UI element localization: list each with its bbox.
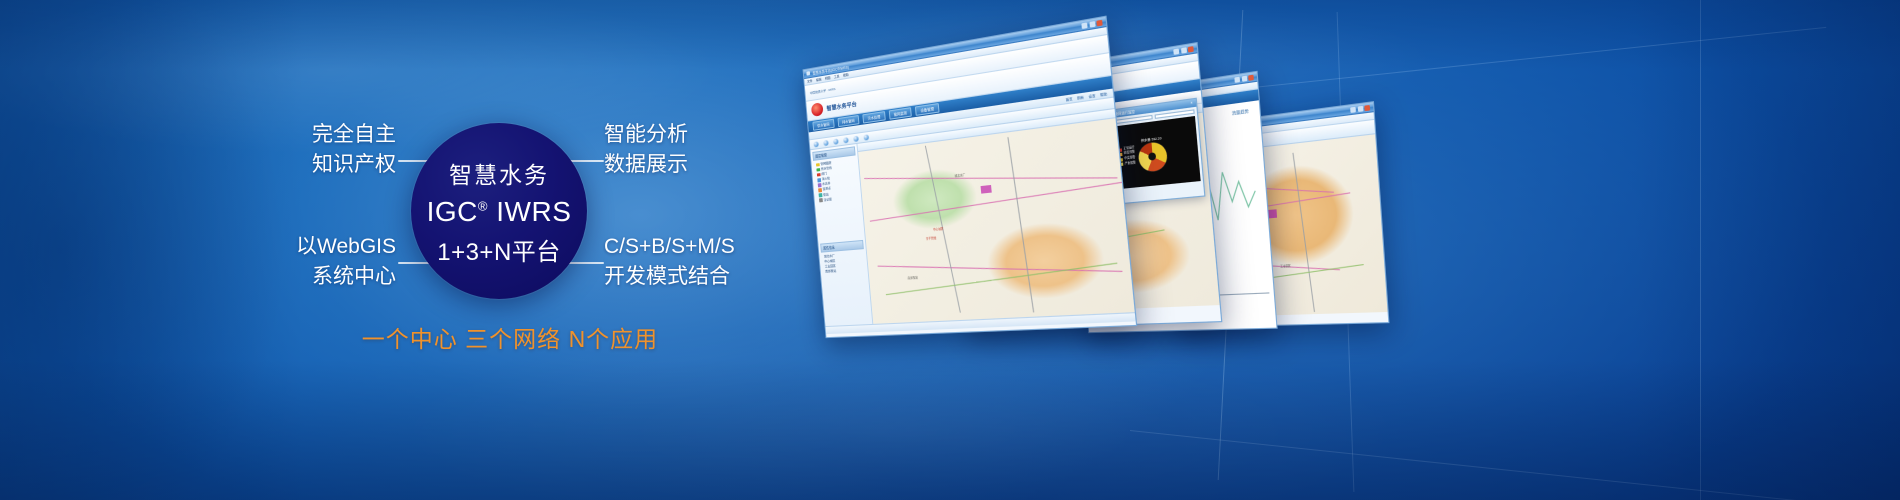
dialog-body: 正常运行 轻度预警 中度预警 严重报警 供水量 532.20 [1112,107,1203,192]
map-road [1008,137,1035,312]
subnav-item[interactable]: 帮助 [1100,91,1107,97]
window-controls[interactable] [1350,104,1370,112]
feature-line-2: 数据展示 [604,150,834,180]
subnav-item[interactable]: 刷新 [1077,94,1084,99]
map-marker [981,185,992,194]
map-road [870,180,1134,221]
menu-item[interactable]: 视图 [825,76,831,81]
registered-mark-icon: ® [478,198,488,213]
badge-title: 智慧水务 [449,156,549,190]
badge-product-suffix: IWRS [496,196,571,227]
brand-title: 智慧水务平台 [826,99,857,112]
feature-line-2: 知识产权 [188,150,396,180]
feature-bottom-left: 以WebGIS 系统中心 [188,232,396,293]
legend-label: 严重报警 [1125,161,1136,167]
subnav-item[interactable]: 首页 [1065,96,1072,101]
pie-chart [1137,140,1168,172]
toolbar-icon[interactable] [863,134,869,141]
feature-line-1: 完全自主 [312,123,396,146]
feature-bottom-right: C/S+B/S+M/S 开发模式结合 [604,232,854,293]
screenshot-stack: 智慧水务平台(IGC®IWRS) 文件 编辑 视图 工具 [780,20,1900,480]
toolbar-icon[interactable] [853,135,859,142]
chart-title: 流量趋势 [1232,108,1249,117]
concept-graphic: 智慧水务 IGC® IWRS 1+3+N平台 完全自主 知识产权 智能分析 数据… [0,0,820,500]
map-road [1293,153,1315,312]
feature-top-left: 完全自主 知识产权 [188,120,396,181]
tagline: 一个中心 三个网络 N个应用 [300,320,720,354]
feature-top-right: 智能分析 数据展示 [604,120,834,181]
map-label: 主干管线 [926,236,937,241]
tree-item-label: 注记层 [823,197,832,203]
window-controls[interactable] [1234,74,1254,82]
pie-chart-panel: 正常运行 轻度预警 中度预警 严重报警 供水量 532.20 [1115,116,1201,189]
hero-banner: 智慧水务平台(IGC®IWRS) 文件 编辑 视图 工具 [0,0,1900,500]
map-label: 中心城区 [933,227,944,232]
badge-platform: 1+3+N平台 [437,232,561,267]
feature-line-1: 以WebGIS [296,235,396,258]
pie-chart-title: 供水量 532.20 [1141,135,1162,142]
badge-product: IGC® IWRS [427,196,572,228]
monitor-dialog[interactable]: 管网运行监控 × 正常运行 轻度预警 中度预警 [1110,98,1205,205]
toolbar-icon[interactable] [843,136,849,143]
feature-line-2: 系统中心 [188,262,396,292]
feature-line-1: 智能分析 [604,123,688,146]
window-controls[interactable] [1081,19,1102,28]
menu-item[interactable]: 工具 [834,74,840,79]
gis-map-canvas[interactable]: 中心城区 主干管线 城北水厂 南郊泵站 [857,109,1134,324]
map-road [864,177,1117,179]
feature-line-1: C/S+B/S+M/S [604,235,735,258]
map-label: 工业园区 [1280,264,1291,269]
subnav-item[interactable]: 设置 [1088,93,1095,99]
dialog-close-icon[interactable]: × [1190,100,1193,106]
badge-product-name: IGC [427,196,478,227]
window-controls[interactable] [1173,46,1194,55]
feature-line-2: 开发模式结合 [604,262,854,292]
logo-badge: 智慧水务 IGC® IWRS 1+3+N平台 [411,123,587,299]
map-label: 南郊泵站 [907,275,918,280]
menu-item[interactable]: 帮助 [843,73,849,78]
